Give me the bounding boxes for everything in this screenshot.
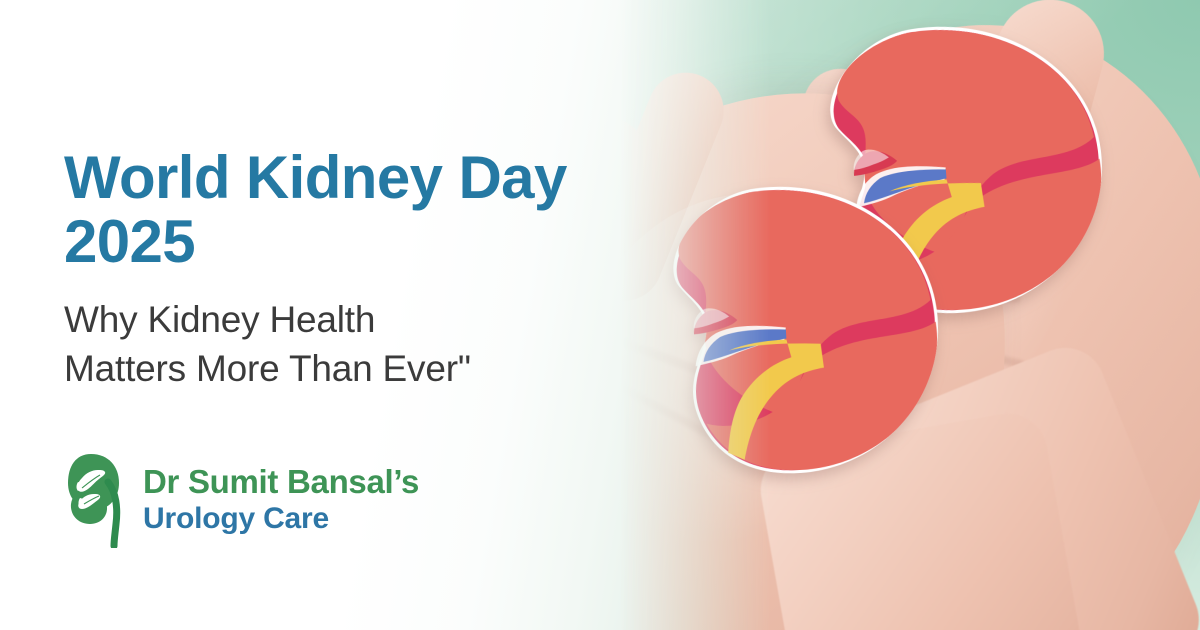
page-subtitle: Why Kidney Health Matters More Than Ever…: [64, 296, 664, 394]
kidney-hand-logo-icon: [64, 452, 130, 548]
practice-name: Dr Sumit Bansal’s: [143, 463, 419, 501]
subtitle-line-2: Matters More Than Ever": [64, 345, 664, 394]
practice-service: Urology Care: [143, 502, 419, 537]
title-line-1: World Kidney Day: [64, 146, 684, 210]
brand-logo[interactable]: Dr Sumit Bansal’s Urology Care: [64, 452, 419, 548]
text-content: World Kidney Day 2025 Why Kidney Health …: [0, 0, 700, 630]
page-title: World Kidney Day 2025: [64, 146, 684, 274]
world-kidney-day-banner: World Kidney Day 2025 Why Kidney Health …: [0, 0, 1200, 630]
subtitle-line-1: Why Kidney Health: [64, 296, 664, 345]
title-line-2: 2025: [64, 210, 684, 274]
logo-text-block: Dr Sumit Bansal’s Urology Care: [143, 463, 419, 536]
